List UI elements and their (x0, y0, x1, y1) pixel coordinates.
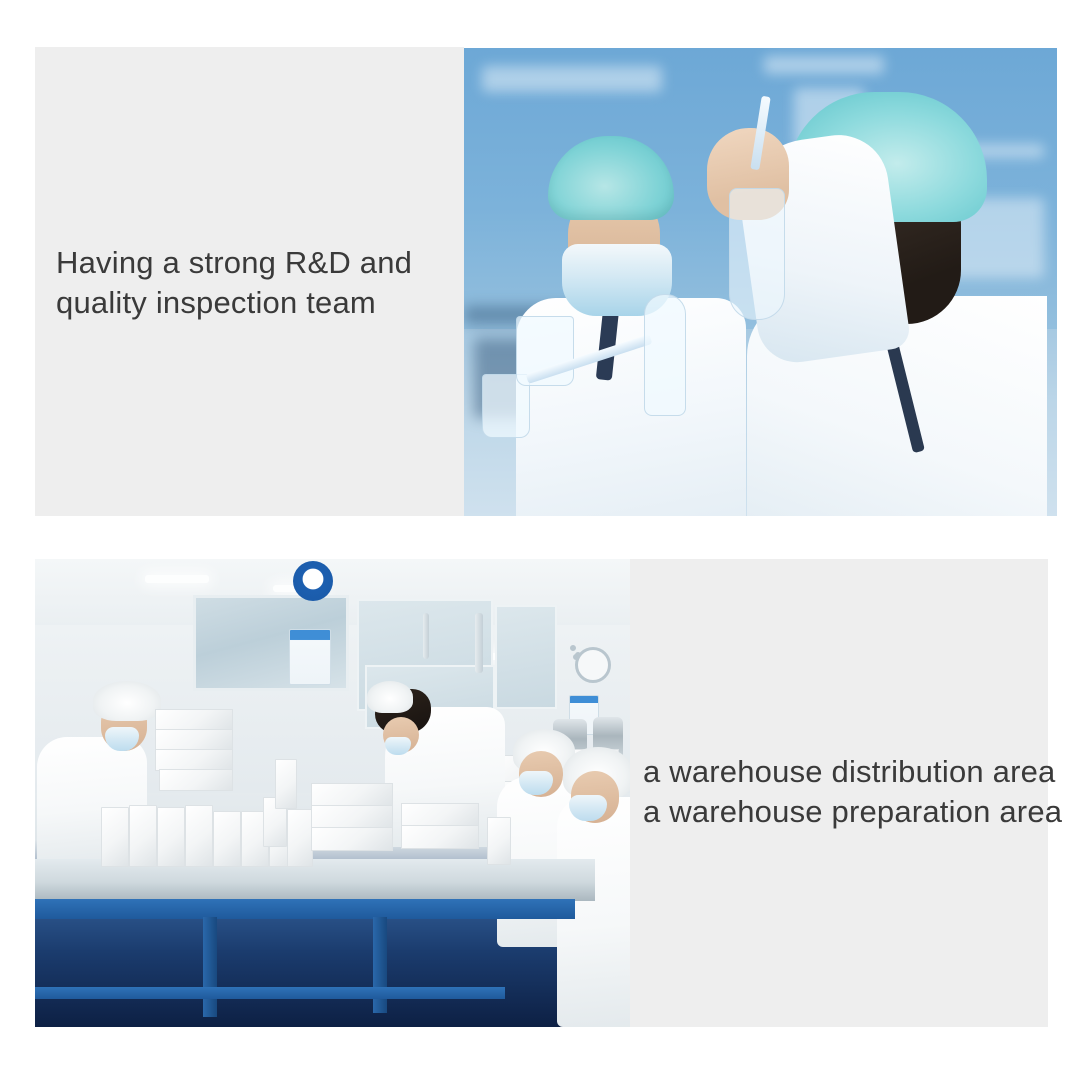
warehouse-worker-2-hairnet (367, 681, 413, 713)
ceiling-light-2 (764, 56, 884, 74)
ceiling-pipe-2 (423, 613, 429, 659)
rnd-caption: Having a strong R&D and quality inspecti… (56, 243, 456, 324)
carton-9 (287, 809, 313, 867)
box-stack-mid-4 (401, 803, 479, 827)
box-stack-mid-2 (311, 805, 393, 829)
wall-clock-hidden-3 (570, 645, 576, 651)
wall-clock (575, 647, 611, 683)
measuring-cylinder (644, 294, 686, 416)
carton-5 (213, 811, 241, 867)
table-lower-shelf (35, 987, 505, 999)
carton-3 (157, 807, 185, 867)
warehouse-worker-1-hairnet (93, 681, 161, 721)
wall-notice-board (289, 629, 331, 685)
warehouse-caption-line-2: a warehouse preparation area (643, 792, 1043, 832)
table-leg-1 (203, 917, 217, 1017)
carton-2 (129, 805, 157, 867)
box-stack-left-3 (155, 749, 233, 771)
warehouse-caption-line-1: a warehouse distribution area (643, 752, 1043, 792)
box-stack-left-2 (155, 729, 233, 751)
box-stack-left-1 (155, 709, 233, 731)
glass-partition-3 (495, 605, 557, 709)
held-flask (729, 188, 785, 320)
carton-upright-1 (275, 759, 297, 809)
safety-sign-icon (293, 561, 333, 601)
ceiling-light-1 (145, 575, 209, 583)
carton-4 (185, 805, 213, 867)
table-frame-rail (35, 899, 575, 919)
lab-quality-inspection-photo (464, 48, 1057, 516)
box-stack-mid-1 (311, 783, 393, 807)
box-stack-mid-3 (311, 827, 393, 851)
warehouse-caption: a warehouse distribution area a warehous… (643, 752, 1043, 833)
box-stack-mid-5 (401, 825, 479, 849)
ceiling-pipe (475, 613, 483, 673)
box-stack-left-4 (159, 769, 233, 791)
ceiling-light (482, 66, 662, 92)
warehouse-packing-photo (35, 559, 630, 1027)
rnd-caption-line-2: quality inspection team (56, 283, 456, 323)
rnd-caption-line-1: Having a strong R&D and (56, 243, 456, 283)
carton-1 (101, 807, 129, 867)
carton-upright-2 (487, 817, 511, 865)
